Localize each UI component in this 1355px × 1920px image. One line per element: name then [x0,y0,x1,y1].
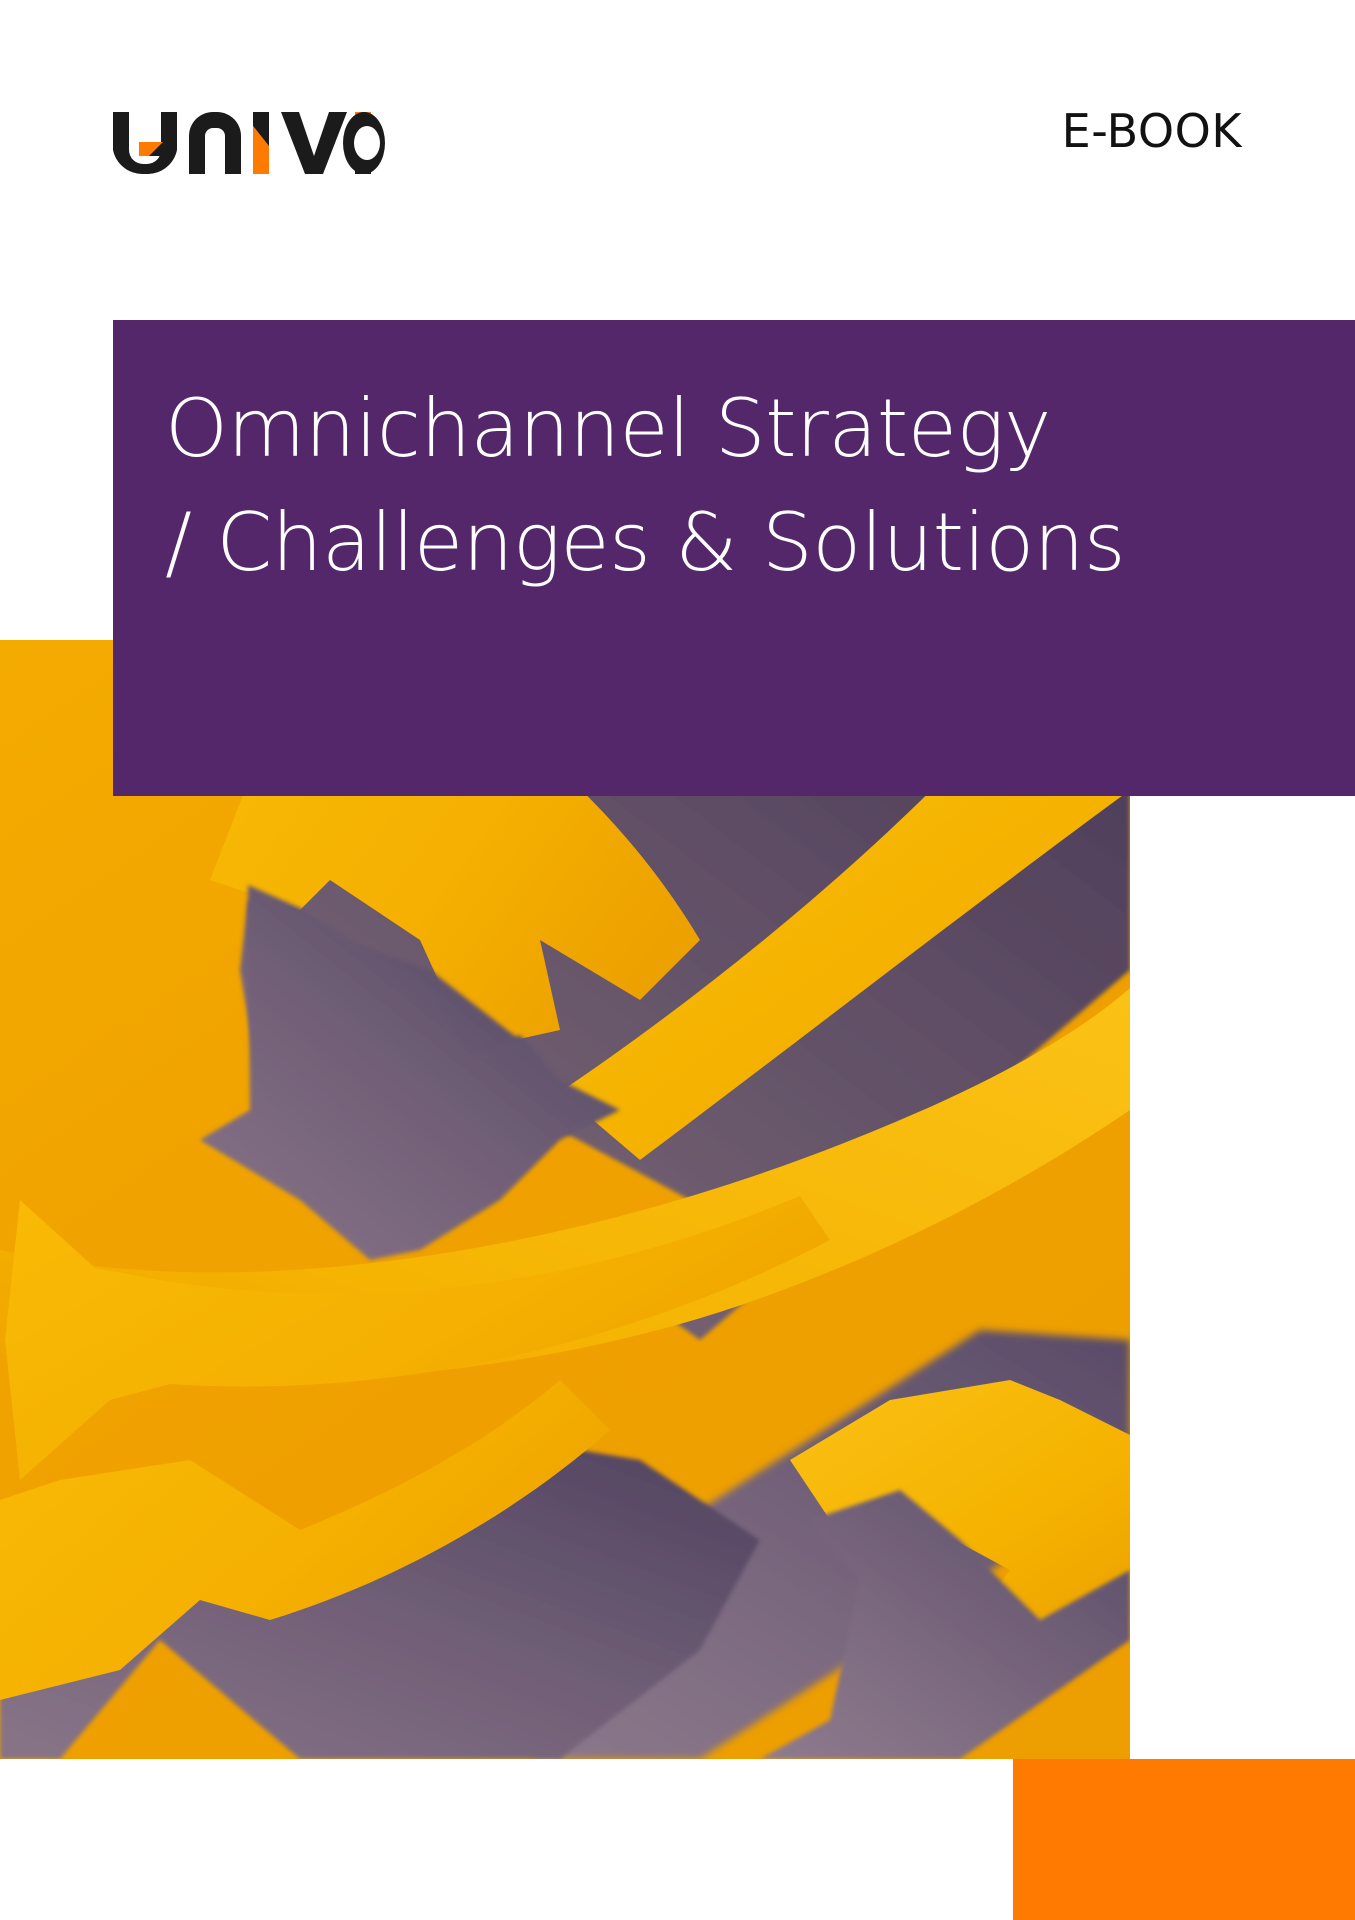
cover-header: E-BOOK [0,0,1355,260]
cover-photo [0,640,1130,1759]
logo-letter-u [113,112,177,174]
logo-letter-o [343,112,385,174]
ebook-label: E-BOOK [1062,108,1242,154]
logo-letter-v [281,112,347,174]
logo-letter-n [189,112,241,174]
ebook-cover-page: E-BOOK [0,0,1355,1920]
page-title: Omnichannel Strategy / Challenges & Solu… [165,372,1315,599]
title-band: Omnichannel Strategy / Challenges & Solu… [113,320,1355,796]
univio-logo [113,112,403,174]
paper-grain-overlay [0,640,1130,1759]
orange-corner-accent [1013,1759,1355,1920]
logo-letter-i [253,112,269,174]
